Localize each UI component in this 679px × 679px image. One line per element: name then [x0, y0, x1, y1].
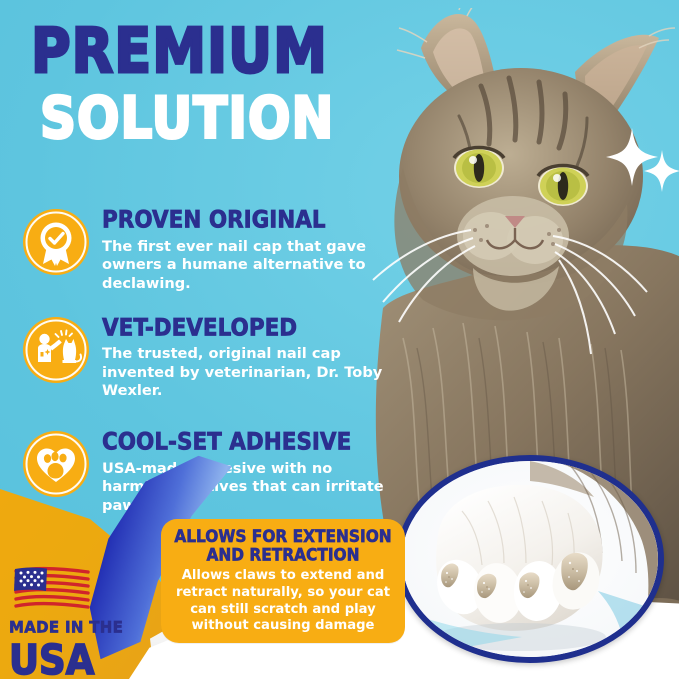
feature-title: PROVEN ORIGINAL: [102, 209, 417, 233]
heart-paw-icon: [22, 430, 90, 498]
cat-paw-with-nail-caps-photo: [396, 455, 664, 663]
sparkle-small-icon: [644, 150, 679, 192]
callout-description: Allows claws to extend and retract natur…: [171, 568, 395, 635]
feature-item: VET-DEVELOPED The trusted, original nail…: [22, 314, 417, 402]
product-feature-poster: PREMIUM SOLUTION PROVEN ORIGINAL The fir…: [0, 0, 679, 679]
headline: PREMIUM SOLUTION: [31, 22, 431, 139]
headline-line-1: PREMIUM: [31, 22, 439, 82]
extension-retraction-callout: ALLOWS FOR EXTENSION AND RETRACTION Allo…: [161, 519, 405, 643]
made-in-usa-line-1: MADE IN THE: [9, 620, 134, 636]
made-in-usa-line-2: USA: [9, 640, 134, 679]
callout-title: ALLOWS FOR EXTENSION AND RETRACTION: [171, 528, 395, 564]
feature-item: PROVEN ORIGINAL The first ever nail cap …: [22, 206, 417, 294]
award-badge-icon: [22, 208, 90, 276]
vet-highfive-cat-icon: [22, 316, 90, 384]
callout-title-line-1: ALLOWS FOR EXTENSION: [171, 528, 395, 546]
feature-title: VET-DEVELOPED: [102, 317, 417, 341]
feature-title: COOL-SET ADHESIVE: [102, 431, 417, 455]
headline-line-2: SOLUTION: [40, 91, 439, 147]
feature-description: The trusted, original nail cap invented …: [102, 345, 392, 401]
usa-flag-icon: [13, 565, 91, 611]
feature-text: VET-DEVELOPED The trusted, original nail…: [102, 314, 417, 402]
callout-title-line-2: AND RETRACTION: [171, 546, 395, 564]
made-in-usa-badge: MADE IN THE USA: [9, 565, 134, 677]
feature-text: PROVEN ORIGINAL The first ever nail cap …: [102, 206, 417, 294]
feature-description: The first ever nail cap that gave owners…: [102, 238, 392, 294]
